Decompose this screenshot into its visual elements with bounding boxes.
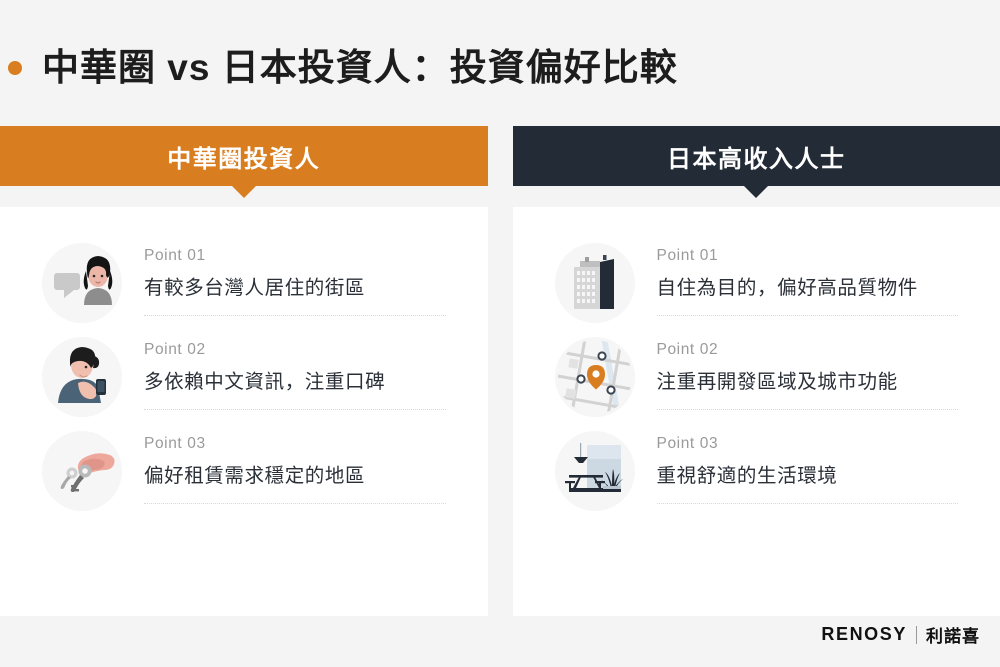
brand-name: RENOSY <box>821 624 907 645</box>
divider <box>657 503 959 504</box>
header-notch-icon <box>743 185 769 198</box>
point-text: 偏好租賃需求穩定的地區 <box>144 463 446 489</box>
high-rise-building-icon <box>555 243 635 323</box>
brand-name-localized: 利諾喜 <box>926 622 980 647</box>
list-item-body: Point 01 自住為目的，偏好高品質物件 <box>657 243 959 316</box>
footer-brand: RENOSY 利諾喜 <box>821 622 980 647</box>
point-label: Point 02 <box>144 341 446 360</box>
list-item-body: Point 03 重視舒適的生活環境 <box>657 431 959 504</box>
point-label: Point 01 <box>144 247 446 266</box>
page-title-text: 中華圈 vs 日本投資人：投資偏好比較 <box>42 48 678 89</box>
person-using-smartphone-icon <box>42 337 122 417</box>
bullet-dot-icon <box>8 61 22 75</box>
point-text: 有較多台灣人居住的街區 <box>144 275 446 301</box>
brand-divider <box>916 626 917 644</box>
page-title: 中華圈 vs 日本投資人：投資偏好比較 <box>0 40 1000 96</box>
list-item: Point 02 注重再開發區域及城市功能 <box>555 323 959 417</box>
column-header-left-label: 中華圈投資人 <box>167 139 320 174</box>
hand-holding-keys-icon <box>42 431 122 511</box>
point-label: Point 01 <box>657 247 959 266</box>
point-text: 多依賴中文資訊，注重口碑 <box>144 369 446 395</box>
list-item: Point 01 自住為目的，偏好高品質物件 <box>555 229 959 323</box>
list-item-body: Point 01 有較多台灣人居住的街區 <box>144 243 446 316</box>
list-item-body: Point 02 多依賴中文資訊，注重口碑 <box>144 337 446 410</box>
header-notch-icon <box>231 185 257 198</box>
column-card-left: Point 01 有較多台灣人居住的街區 <box>0 207 488 616</box>
divider <box>144 315 446 316</box>
point-text: 重視舒適的生活環境 <box>657 463 959 489</box>
comparison-columns: 中華圈投資人 <box>0 126 1000 616</box>
point-label: Point 02 <box>657 341 959 360</box>
list-item: Point 02 多依賴中文資訊，注重口碑 <box>42 323 446 417</box>
woman-with-speech-bubble-icon <box>42 243 122 323</box>
list-item: Point 01 有較多台灣人居住的街區 <box>42 229 446 323</box>
divider <box>657 409 959 410</box>
list-item-body: Point 02 注重再開發區域及城市功能 <box>657 337 959 410</box>
column-card-right: Point 01 自住為目的，偏好高品質物件 <box>513 207 1000 616</box>
column-japanese-investors: 日本高收入人士 <box>513 126 1000 616</box>
list-item-body: Point 03 偏好租賃需求穩定的地區 <box>144 431 446 504</box>
map-with-pin-icon <box>555 337 635 417</box>
column-chinese-investors: 中華圈投資人 <box>0 126 488 616</box>
column-header-right-label: 日本高收入人士 <box>667 139 846 174</box>
divider <box>144 503 446 504</box>
divider <box>144 409 446 410</box>
slide-root: 中華圈 vs 日本投資人：投資偏好比較 中華圈投資人 <box>0 0 1000 667</box>
column-header-left: 中華圈投資人 <box>0 126 488 186</box>
column-header-right: 日本高收入人士 <box>513 126 1000 186</box>
point-label: Point 03 <box>144 435 446 454</box>
living-room-interior-icon <box>555 431 635 511</box>
list-item: Point 03 偏好租賃需求穩定的地區 <box>42 417 446 511</box>
divider <box>657 315 959 316</box>
point-text: 自住為目的，偏好高品質物件 <box>657 275 959 301</box>
point-text: 注重再開發區域及城市功能 <box>657 369 959 395</box>
list-item: Point 03 重視舒適的生活環境 <box>555 417 959 511</box>
point-label: Point 03 <box>657 435 959 454</box>
